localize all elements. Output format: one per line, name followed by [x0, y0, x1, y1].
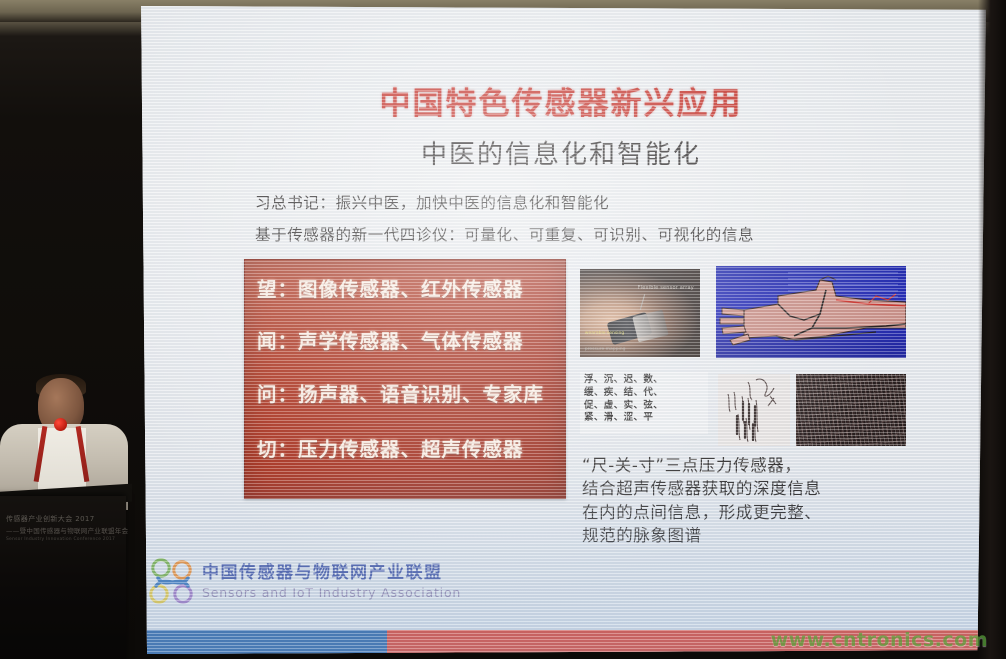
diagnostic-line-qie: 切：压力传感器、超声传感器 [257, 438, 553, 461]
flexible-sensor-label: Flexible sensor array [638, 285, 694, 291]
speaker-at-podium: 传感器产业创新大会 2017 ——暨中国传感器与物联网产业联盟年会 Sensor… [0, 362, 136, 659]
projection-screen: 中国特色传感器新兴应用 中医的信息化和智能化 习总书记：振兴中医，加快中医的信息… [136, 6, 986, 654]
pulse-waveform-sketch [718, 374, 790, 446]
sketch-strokes [718, 374, 790, 446]
podium-line-cn-2: ——暨中国传感器与物联网产业联盟年会 [6, 525, 126, 535]
podium-line-cn-1: 传感器产业创新大会 2017 [6, 514, 126, 524]
anatomical-hand-diagram [716, 266, 906, 358]
association-logo-icon [146, 556, 198, 608]
podium-line-en: Sensor Industry Innovation Conference 20… [6, 537, 126, 542]
wrist-photo-caption-yellow: wearable sensing [585, 331, 624, 336]
caption-line-1: “尺-关-寸”三点压力传感器， [582, 454, 912, 477]
diagnostic-line-wen-ask: 问：扬声器、语音识别、专家库 [257, 383, 553, 406]
bottom-bar-blue-segment [136, 630, 387, 654]
slide-subtitle: 中医的信息化和智能化 [136, 134, 986, 171]
pulse-line-3: 促、虚、实、弦、 [584, 400, 704, 413]
callout-leader-line [640, 294, 645, 310]
caption-line-4: 规范的脉象图谱 [582, 524, 912, 547]
caption-line-2: 结合超声传感器获取的深度信息 [582, 477, 912, 500]
association-name-en: Sensors and IoT Industry Association [202, 585, 461, 600]
hand-anatomy-drawing [716, 266, 906, 358]
diagnostic-line-wang: 望：图像传感器、红外传感器 [257, 278, 553, 301]
slide-bullet-2: 基于传感器的新一代四诊仪：可量化、可重复、可识别、可视化的信息 [255, 223, 754, 245]
association-logo: 中国传感器与物联网产业联盟 Sensors and IoT Industry A… [146, 554, 496, 612]
pulse-types-text-block: 浮、沉、迟、数、 缓、疾、结、代、 促、虚、实、弦、 紧、滑、涩、平 [580, 372, 708, 434]
presentation-slide: 中国特色传感器新兴应用 中医的信息化和智能化 习总书记：振兴中医，加快中医的信息… [136, 6, 986, 654]
pulse-line-2: 缓、疾、结、代、 [584, 387, 704, 400]
pulse-line-1: 浮、沉、迟、数、 [584, 374, 704, 387]
waveform-texture [796, 374, 906, 446]
caption-line-3: 在内的点间信息，形成更完整、 [582, 501, 912, 524]
microphone-icon [54, 418, 67, 431]
wrist-strap [632, 310, 669, 343]
association-name-cn: 中国传感器与物联网产业联盟 [202, 558, 461, 583]
diagnostic-line-wen: 闻：声学传感器、气体传感器 [257, 330, 553, 353]
flexible-sensor-wrist-photo: Flexible sensor array wearable sensing p… [580, 269, 700, 357]
association-logo-text: 中国传感器与物联网产业联盟 Sensors and IoT Industry A… [202, 558, 461, 600]
pulse-line-4: 紧、滑、涩、平 [584, 412, 704, 425]
panel-gloss [245, 260, 565, 369]
pulse-waveform-chart [796, 374, 906, 446]
photo-of-conference-slide: 中国特色传感器新兴应用 中医的信息化和智能化 习总书记：振兴中医，加快中医的信息… [0, 0, 1006, 659]
slide-bullet-1: 习总书记：振兴中医，加快中医的信息化和智能化 [255, 191, 609, 213]
right-wall-shadow [978, 0, 1006, 659]
pressure-sensor-caption: “尺-关-寸”三点压力传感器， 结合超声传感器获取的深度信息 在内的点间信息，形… [582, 454, 912, 548]
wrist-photo-caption-white: pressure mapping [585, 347, 626, 352]
podium: 传感器产业创新大会 2017 ——暨中国传感器与物联网产业联盟年会 Sensor… [0, 496, 126, 659]
podium-signage: 传感器产业创新大会 2017 ——暨中国传感器与物联网产业联盟年会 Sensor… [6, 514, 126, 542]
four-diagnostics-red-panel: 望：图像传感器、红外传感器 闻：声学传感器、气体传感器 问：扬声器、语音识别、专… [244, 259, 566, 499]
site-watermark: www.cntronics.com [771, 629, 988, 651]
slide-title: 中国特色传感器新兴应用 [136, 78, 986, 123]
